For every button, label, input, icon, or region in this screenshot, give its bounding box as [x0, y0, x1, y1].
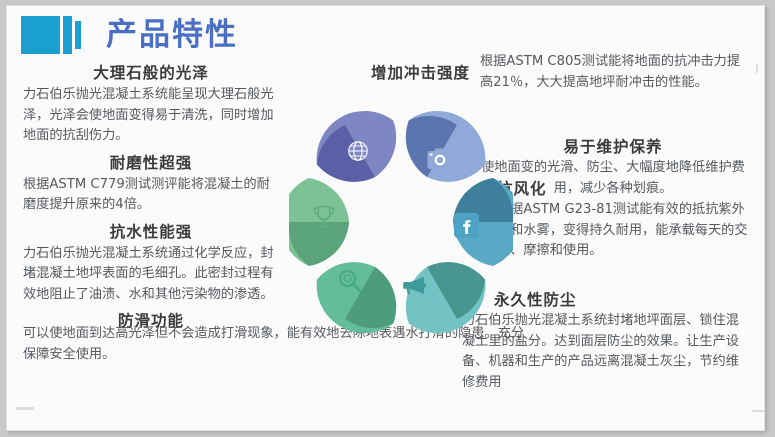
camera-icon[interactable] — [427, 146, 453, 172]
trophy-icon[interactable] — [311, 204, 337, 230]
page-artifact-bottom-left — [16, 407, 34, 410]
logo-bars-icon — [21, 16, 84, 54]
globe-icon[interactable] — [345, 138, 371, 164]
feature-heading-weathering: 抗风化 — [497, 178, 749, 200]
impact-body-block: 根据ASTM C805测试能将地面的抗冲击力提高21％，大大提高地坪耐冲击的性能… — [480, 52, 748, 93]
page-artifact-right-bottom — [752, 410, 765, 412]
facebook-icon[interactable] — [453, 212, 479, 238]
feature-heading-marble: 大理石般的光泽 — [23, 62, 279, 84]
feature-body-abrasion: 根据ASTM C779测试测评能将混凝土的耐磨度提升原来的4倍。 — [23, 175, 279, 216]
slide-canvas: 产品特性 大理石般的光泽 力石伯乐抛光混凝土系统能呈现大理石般光泽，光泽会使地面… — [6, 5, 765, 431]
page-title: 产品特性 — [106, 16, 238, 54]
megaphone-icon[interactable] — [401, 272, 427, 298]
search-icon[interactable] — [337, 268, 363, 294]
flower-infographic — [289, 110, 513, 334]
impact-heading-block: 增加冲击强度 — [362, 62, 470, 84]
feature-body-water: 力石伯乐抛光混凝土系统通过化学反应，封堵混凝土地坪表面的毛细孔。此密封过程有效地… — [23, 244, 279, 306]
feature-heading-maintenance: 易于维护保养 — [477, 136, 749, 158]
feature-heading-water: 抗水性能强 — [23, 221, 279, 243]
page-artifact-right-top — [756, 64, 758, 73]
feature-heading-impact: 增加冲击强度 — [362, 62, 470, 84]
logo-bar-1 — [21, 16, 60, 54]
left-feature-column: 大理石般的光泽 力石伯乐抛光混凝土系统能呈现大理石般光泽，光泽会使地面变得易于清… — [23, 62, 279, 333]
weathering-block: 抗风化 根据ASTM G23-81测试能有效的抵抗紫外线和水雾，变得持久耐用，能… — [497, 178, 749, 262]
feature-heading-abrasion: 耐磨性超强 — [23, 152, 279, 174]
logo-bar-3 — [75, 21, 81, 49]
feature-body-marble: 力石伯乐抛光混凝土系统能呈现大理石般光泽，光泽会使地面变得易于清洗，同时增加地面… — [23, 85, 279, 147]
slide-header: 产品特性 — [21, 16, 238, 54]
feature-body-impact: 根据ASTM C805测试能将地面的抗冲击力提高21％，大大提高地坪耐冲击的性能… — [480, 52, 748, 93]
logo-bar-2 — [63, 16, 72, 54]
feature-body-weathering: 根据ASTM G23-81测试能有效的抵抗紫外线和水雾，变得持久耐用，能承载每天… — [497, 200, 749, 262]
